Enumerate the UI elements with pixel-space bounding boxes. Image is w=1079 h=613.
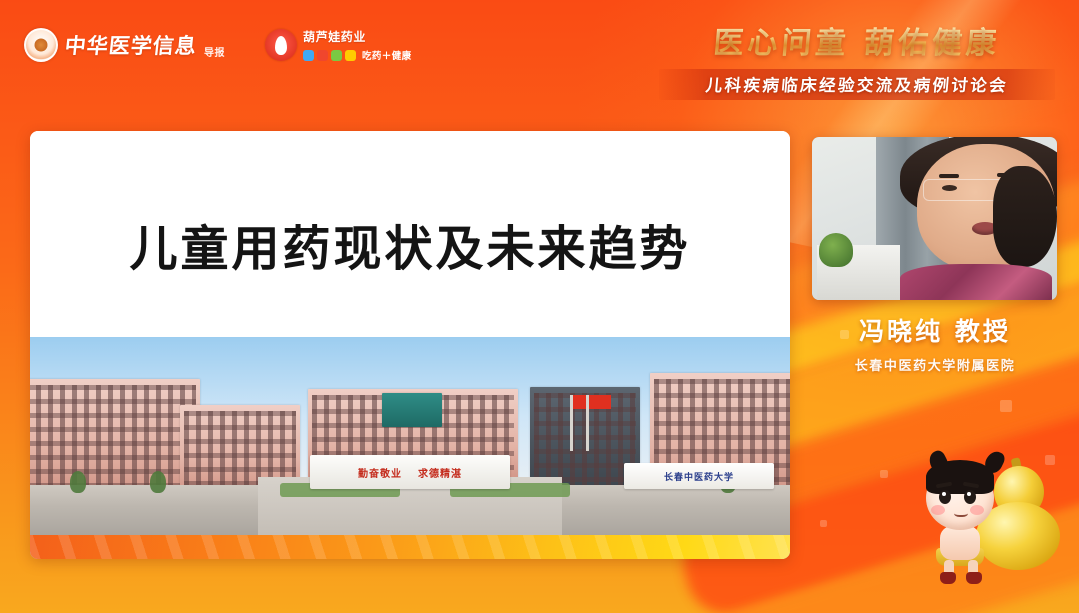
speaker-caption: 冯晓纯 教授 长春中医药大学附属医院	[805, 312, 1065, 374]
tree-icon	[150, 471, 166, 493]
event-subtitle-strip: 儿科疾病临床经验交流及病例讨论会	[659, 69, 1055, 100]
mascot-cheek-right	[970, 505, 984, 515]
partner-brand-name: 葫芦娃药业	[303, 28, 412, 45]
penguin-mark-icon	[265, 29, 297, 61]
mascot-boy	[920, 456, 1006, 582]
cloud-icon	[590, 276, 750, 312]
chip-red-icon	[317, 50, 328, 61]
event-banner: 医心问童 葫佑健康 儿科疾病临床经验交流及病例讨论会	[659, 18, 1055, 100]
flag-icon	[586, 395, 589, 451]
gate-sign-text: 长春中医药大学	[664, 470, 734, 483]
mascot-hair-tuft-right	[982, 448, 1007, 475]
broadcast-stage: 中华医学信息 导报 葫芦娃药业 吃药＋健康 医心问童 葫佑健康 儿科疾病临床经验…	[0, 0, 1079, 613]
mascot-boot-left	[940, 572, 956, 584]
building-center-top	[382, 393, 442, 427]
flag-icon	[570, 395, 573, 451]
cloud-icon	[90, 281, 240, 315]
campus-gate-sign: 长春中医药大学	[624, 463, 774, 489]
sparkle-icon	[1000, 400, 1012, 412]
speaker-hair-side	[993, 166, 1057, 267]
sparkle-icon	[880, 470, 888, 478]
mascot-mouth	[954, 508, 968, 517]
campus-wall-sign: 勤奋敬业 求德精湛	[310, 455, 510, 489]
presentation-slide[interactable]: 儿童用药现状及未来趋势 长春中医药大学附属医院 儿童诊疗中心 长春中医药大学附属…	[30, 131, 790, 559]
event-title: 医心问童 葫佑健康	[657, 18, 1057, 62]
speaker-organization: 长春中医药大学附属医院	[805, 355, 1065, 374]
event-subtitle: 儿科疾病临床经验交流及病例讨论会	[658, 72, 1056, 96]
slide-title: 儿童用药现状及未来趋势	[30, 209, 790, 279]
building-left	[30, 379, 200, 497]
logo-partner-brand: 葫芦娃药业 吃药＋健康	[265, 28, 412, 62]
slide-footer-band	[30, 535, 790, 559]
mascot-eye-left	[939, 490, 951, 504]
mascot-eye-right	[964, 490, 976, 504]
speaker-video-feed[interactable]	[812, 137, 1057, 300]
wall-sign-right: 求德精湛	[418, 465, 462, 480]
tree-icon	[70, 471, 86, 493]
mascot-cheek-left	[931, 505, 945, 515]
speaker-name: 冯晓纯 教授	[805, 312, 1065, 348]
chip-blue-icon	[303, 50, 314, 61]
plant-icon	[819, 233, 853, 267]
speaker-brow-left	[939, 174, 959, 178]
mascot-hair	[926, 460, 994, 494]
logo-wordmark-suffix: 导报	[204, 44, 225, 62]
speaker-clothing	[900, 264, 1052, 300]
seal-emblem-icon	[24, 28, 58, 62]
mascot-boot-right	[966, 572, 982, 584]
wall-sign-left: 勤奋敬业	[358, 465, 402, 480]
chip-yellow-icon	[345, 50, 356, 61]
mascot-body	[940, 526, 980, 560]
logo-wordmark: 中华医学信息	[63, 30, 198, 60]
campus-photo: 勤奋敬业 求德精湛 长春中医药大学	[30, 337, 790, 537]
partner-brand-tagline-row: 吃药＋健康	[303, 48, 412, 62]
chip-green-icon	[331, 50, 342, 61]
partner-brand-tagline: 吃药＋健康	[362, 48, 412, 62]
mascot-hair-tuft-left	[926, 448, 951, 475]
logo-chinese-medical-association-news: 中华医学信息 导报	[24, 28, 225, 62]
header-logo-row: 中华医学信息 导报 葫芦娃药业 吃药＋健康	[24, 28, 412, 62]
sparkle-icon	[820, 520, 827, 527]
calabash-boy-mascot	[916, 436, 1066, 586]
